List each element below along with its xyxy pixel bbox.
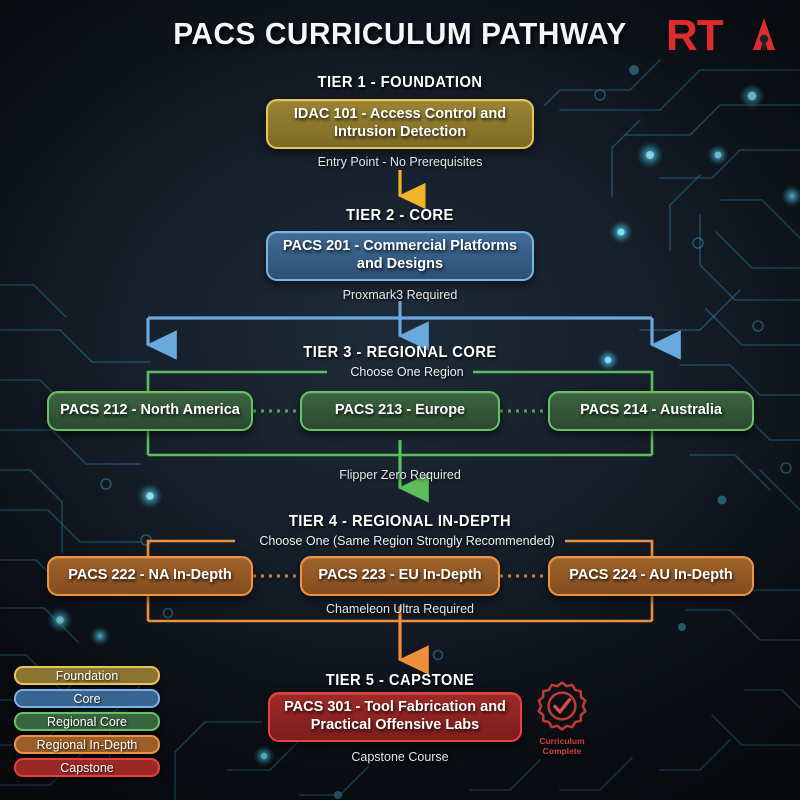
tier-heading-3: TIER 3 - REGIONAL CORE (20, 344, 780, 362)
seal-label: Curriculum Complete (527, 737, 597, 757)
course-box-pacs-224[interactable]: PACS 224 - AU In-Depth (548, 556, 754, 596)
course-label-line1: PACS 201 - Commercial Platforms (283, 238, 517, 256)
legend-label: Capstone (60, 761, 114, 775)
legend-label: Core (73, 692, 100, 706)
caption-tier-1: Entry Point - No Prerequisites (0, 155, 800, 169)
seal-label-line2: Complete (527, 747, 597, 757)
course-label: PACS 224 - AU In-Depth (569, 567, 733, 585)
legend-label: Foundation (56, 669, 119, 683)
tier-heading-2: TIER 2 - CORE (20, 207, 780, 225)
curriculum-pathway-infographic: PACS CURRICULUM PATHWAY RT (0, 0, 800, 800)
course-label-line2: Intrusion Detection (294, 124, 506, 142)
caption-tier-4: Chameleon Ultra Required (0, 602, 800, 616)
bracket-label-tier-4: Choose One (Same Region Strongly Recomme… (235, 534, 579, 548)
course-box-pacs-201[interactable]: PACS 201 - Commercial Platforms and Desi… (266, 231, 534, 281)
course-box-pacs-223[interactable]: PACS 223 - EU In-Depth (300, 556, 500, 596)
arrow-tier2-to-tier3 (148, 301, 652, 345)
course-label: PACS 222 - NA In-Depth (68, 567, 232, 585)
course-label: PACS 214 - Australia (580, 402, 722, 420)
legend-item-foundation[interactable]: Foundation (14, 666, 160, 685)
legend-label: Regional In-Depth (37, 738, 138, 752)
curriculum-complete-seal: Curriculum Complete (527, 681, 597, 753)
course-label-line2: and Designs (283, 256, 517, 274)
course-label: PACS 212 - North America (60, 402, 240, 420)
course-label: PACS 223 - EU In-Depth (318, 567, 481, 585)
legend-item-capstone[interactable]: Capstone (14, 758, 160, 777)
course-box-pacs-213[interactable]: PACS 213 - Europe (300, 391, 500, 431)
bracket-label-tier-3: Choose One Region (327, 365, 487, 379)
course-label: PACS 213 - Europe (335, 402, 465, 420)
legend-item-core[interactable]: Core (14, 689, 160, 708)
course-box-pacs-222[interactable]: PACS 222 - NA In-Depth (47, 556, 253, 596)
course-box-idac-101[interactable]: IDAC 101 - Access Control and Intrusion … (266, 99, 534, 149)
legend-item-regional-in-depth[interactable]: Regional In-Depth (14, 735, 160, 754)
course-box-pacs-214[interactable]: PACS 214 - Australia (548, 391, 754, 431)
legend: Foundation Core Regional Core Regional I… (14, 666, 160, 781)
legend-label: Regional Core (47, 715, 127, 729)
tier-heading-1: TIER 1 - FOUNDATION (20, 74, 780, 92)
course-box-pacs-212[interactable]: PACS 212 - North America (47, 391, 253, 431)
course-label-line1: IDAC 101 - Access Control and (294, 106, 506, 124)
check-seal-icon (537, 681, 587, 731)
course-label-line2: Practical Offensive Labs (284, 717, 506, 735)
tier-heading-4: TIER 4 - REGIONAL IN-DEPTH (20, 513, 780, 531)
course-box-pacs-301[interactable]: PACS 301 - Tool Fabrication and Practica… (268, 692, 522, 742)
caption-tier-2: Proxmark3 Required (0, 288, 800, 302)
course-label-line1: PACS 301 - Tool Fabrication and (284, 699, 506, 717)
caption-tier-3: Flipper Zero Required (0, 468, 800, 482)
legend-item-regional-core[interactable]: Regional Core (14, 712, 160, 731)
